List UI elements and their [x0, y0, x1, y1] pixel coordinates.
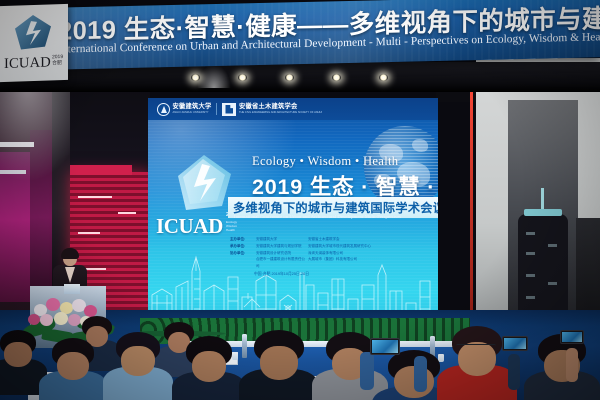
- ceiling-light-cone: [197, 64, 231, 88]
- credit-left: 合肥市一建建筑设计有限责任公司: [256, 256, 308, 270]
- event-logo-wordmark: ICUAD: [156, 214, 223, 239]
- flower-petal: [28, 314, 40, 325]
- phone-screen: [372, 340, 398, 353]
- smartphone-camera[interactable]: [502, 336, 528, 351]
- phone-screen: [504, 338, 526, 349]
- event-logo-sublines: EcologyWisdomHealth: [226, 220, 237, 233]
- credit-left: 安徽建筑大学: [256, 236, 308, 243]
- audience-head: [254, 330, 304, 384]
- wall-red-tick-1: [78, 196, 112, 198]
- credit-right: 深圳天澜装饰有限公司: [308, 250, 390, 257]
- logo-divider: [216, 103, 217, 115]
- water-bottle: [242, 334, 247, 358]
- org-name-cn: 安徽省土木建筑学会: [239, 104, 322, 110]
- org-name-en: ANHUI JIANZHU UNIVERSITY: [173, 111, 212, 114]
- audience-head: [0, 330, 36, 370]
- org-logo-university: 安徽建筑大学 ANHUI JIANZHU UNIVERSITY: [157, 103, 211, 116]
- credit-row: 合肥市一建建筑设计有限责任公司 大展城市（集团）科技有限公司: [230, 256, 390, 270]
- slide-credits-block: 主办单位: 安徽建筑大学 安徽省土木建筑学会 承办单位: 安徽建筑大学建筑与规划…: [230, 236, 390, 270]
- org-name-en: THE CIVIL ENGINEERING AND ARCHITECTURE S…: [239, 111, 322, 114]
- banner-logo-city: 合肥: [52, 60, 62, 66]
- credit-right: 安徽建筑大学城市现代建筑发展研究中心: [308, 243, 390, 250]
- wall-red-tick-4: [118, 212, 136, 214]
- credit-role: 协办单位:: [230, 250, 256, 257]
- phone-screen: [562, 332, 582, 342]
- audience-arm: [508, 354, 520, 390]
- slide-header-bar: 安徽建筑大学 ANHUI JIANZHU UNIVERSITY 安徽省土木建筑学…: [148, 98, 438, 120]
- credit-left: 安徽建筑大学建筑与规划学院: [256, 243, 308, 250]
- tower-window: [548, 244, 557, 247]
- audience-arm: [414, 356, 427, 392]
- university-seal-icon: [157, 103, 170, 116]
- audience-head: [52, 338, 94, 384]
- tower-window: [526, 252, 535, 255]
- slide-place-date: 中国·合肥 2019年10月25日-26日: [254, 272, 309, 277]
- tower-window: [526, 296, 535, 299]
- credit-right: 安徽省土木建筑学会: [308, 236, 390, 243]
- ceiling-spotlight: [285, 74, 294, 81]
- tower-window: [526, 232, 535, 235]
- globe-landmass: [412, 139, 428, 152]
- banner-logo-superscript: 2019 合肥: [52, 54, 63, 67]
- audience-arm: [360, 352, 374, 390]
- icuad-diamond-icon: [176, 154, 232, 214]
- glass-cup: [232, 352, 238, 360]
- tower-window: [548, 282, 557, 285]
- ceiling-spotlight: [238, 74, 247, 81]
- audience-arm: [566, 348, 578, 382]
- audience-head: [116, 332, 160, 380]
- org-logo-society: 安徽省土木建筑学会 THE CIVIL ENGINEERING AND ARCH…: [222, 103, 322, 116]
- ceiling-spotlight: [191, 74, 200, 81]
- eyeglasses-icon: [456, 344, 496, 350]
- audience-head: [186, 336, 232, 386]
- wall-red-edge-light: [470, 66, 473, 332]
- flower-petal: [46, 298, 60, 311]
- wall-red-tick-2: [78, 232, 100, 234]
- audience-face: [121, 346, 154, 376]
- slide-subtitle-en: International Conference on Urban and Ar…: [234, 214, 401, 219]
- credit-left: 安徽建筑设计研究总院: [256, 250, 308, 257]
- led-backdrop-screen: 安徽建筑大学 ANHUI JIANZHU UNIVERSITY 安徽省土木建筑学…: [148, 98, 438, 323]
- credit-row: 承办单位: 安徽建筑大学建筑与规划学院 安徽建筑大学城市现代建筑发展研究中心: [230, 243, 390, 250]
- mic-flag-placard: [64, 284, 80, 294]
- credit-row: 协办单位: 安徽建筑设计研究总院 深圳天澜装饰有限公司: [230, 250, 390, 257]
- audience-face: [4, 342, 31, 367]
- smartphone-camera[interactable]: [370, 338, 400, 355]
- audience-head: [452, 326, 502, 380]
- flower-petal: [40, 314, 53, 326]
- slide-tagline-en: Ecology • Wisdom • Health: [252, 154, 398, 169]
- flower-petal: [54, 312, 68, 325]
- audience-face: [57, 352, 89, 381]
- tower-window: [526, 274, 535, 277]
- credit-role: [230, 256, 256, 270]
- society-mark-icon: [222, 103, 236, 116]
- wall-panel-red-top: [70, 165, 132, 175]
- credit-role: 承办单位:: [230, 243, 256, 250]
- credit-row: 主办单位: 安徽建筑大学 安徽省土木建筑学会: [230, 236, 390, 243]
- banner-logo-block: ICUAD 2019 合肥: [0, 4, 68, 82]
- audience-face: [260, 346, 298, 379]
- credit-right: 大展城市（集团）科技有限公司: [308, 256, 390, 270]
- speaker-hair: [61, 248, 79, 259]
- credit-role: 主办单位:: [230, 236, 256, 243]
- smartphone-camera[interactable]: [560, 330, 584, 344]
- audience-face: [192, 351, 227, 382]
- conference-hall-screenshot: 安徽建筑大学 ANHUI JIANZHU UNIVERSITY 安徽省土木建筑学…: [0, 0, 600, 400]
- ceiling-spotlight: [379, 74, 388, 81]
- banner-logo-wordmark: ICUAD: [4, 54, 51, 73]
- wall-graphic-tower-cap: [524, 209, 562, 216]
- icuad-diamond-icon: [14, 13, 52, 52]
- org-name-cn: 安徽建筑大学: [173, 104, 212, 110]
- ceiling-spotlight: [332, 74, 341, 81]
